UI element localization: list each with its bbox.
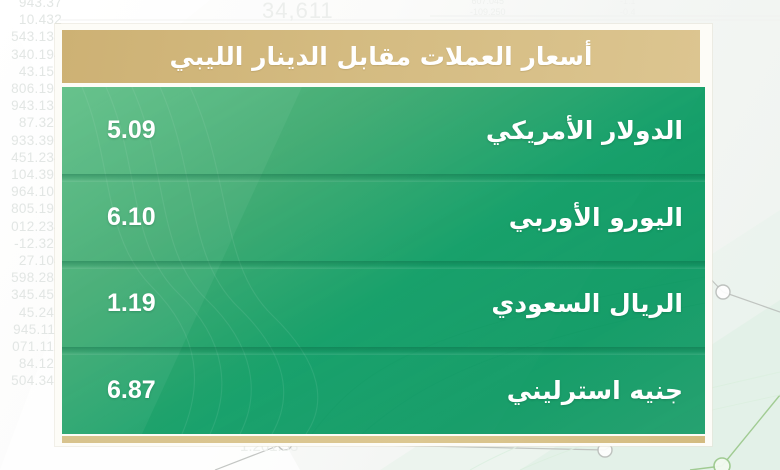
currency-name: جنيه استرليني	[507, 376, 683, 405]
rates-row-list: الدولار الأمريكي 5.09 اليورو الأوربي 6.1…	[62, 87, 705, 434]
background-top-numbers-right: -1.1 -0.4	[620, 0, 636, 18]
table-row[interactable]: الدولار الأمريكي 5.09	[62, 87, 705, 174]
currency-rates-table: الدولار الأمريكي 5.09 اليورو الأوربي 6.1…	[62, 87, 705, 434]
currency-rate: 1.19	[107, 289, 156, 318]
background-index-number: 34,611	[262, 0, 334, 24]
page-title: أسعار العملات مقابل الدينار الليبي	[170, 42, 593, 71]
currency-name: الدولار الأمريكي	[486, 116, 683, 145]
card-footer-bar	[62, 436, 705, 443]
currency-name: اليورو الأوربي	[509, 203, 683, 232]
table-row[interactable]: جنيه استرليني 6.87	[62, 347, 705, 434]
currency-rate: 5.09	[107, 116, 156, 145]
currency-rates-card: أسعار العملات مقابل الدينار الليبي	[55, 24, 712, 446]
background-top-numbers-left: 607.045 -109.250	[470, 0, 506, 18]
table-row[interactable]: اليورو الأوربي 6.10	[62, 174, 705, 261]
currency-rate: 6.87	[107, 376, 156, 405]
screenshot-canvas: 943.37 10.432 543.133 340.194 43.156 806…	[0, 0, 780, 470]
currency-name: الريال السعودي	[491, 289, 683, 318]
card-header-bar: أسعار العملات مقابل الدينار الليبي	[62, 30, 700, 83]
currency-rate: 6.10	[107, 203, 156, 232]
background-ticker-column: 943.37 10.432 543.133 340.194 43.156 806…	[0, 0, 62, 390]
table-row[interactable]: الريال السعودي 1.19	[62, 261, 705, 348]
